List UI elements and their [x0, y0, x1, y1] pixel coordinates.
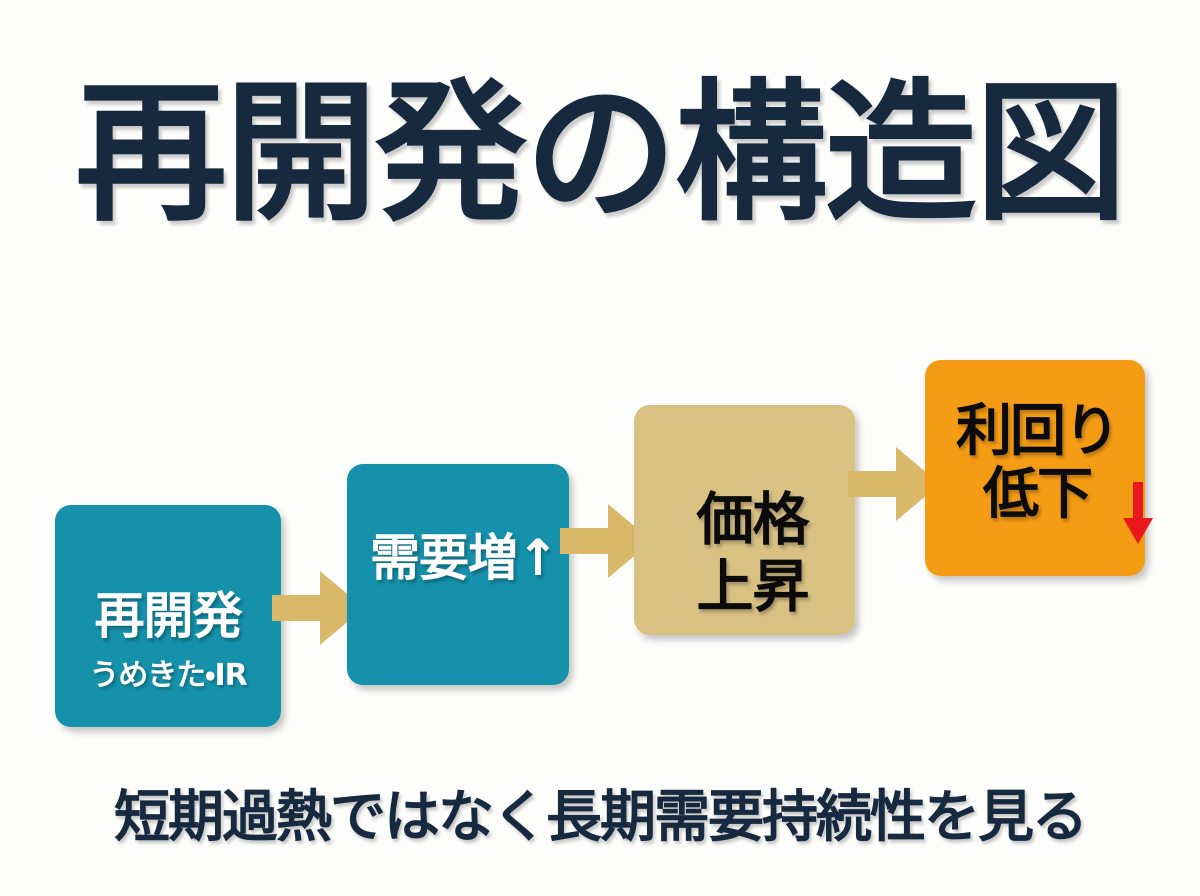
down-arrow-glyph [1123, 482, 1153, 544]
flow-step-price-rise-line2: 上昇 [697, 554, 809, 621]
flow-step-redevelopment-label: 再開発 [95, 591, 242, 642]
footer-caption: 短期過熱ではなく長期需要持続性を見る [0, 772, 1200, 853]
flow-step-redevelopment-sublabel: うめきた・IR [89, 650, 246, 694]
down-arrow-icon [1123, 482, 1153, 544]
flow-step-yield-decline-line2: 低下 [983, 464, 1091, 527]
flow-step-price-rise-line1: 価格 [697, 487, 809, 554]
flow-step-demand-increase: 需要増↑ [347, 464, 569, 685]
flow-step-yield-decline-label: 利回り 低下 [956, 401, 1118, 526]
flow-step-price-rise-label: 価格 上昇 [697, 487, 809, 622]
flow-step-yield-decline-line1: 利回り [956, 401, 1118, 464]
page-title: 再開発の構造図 [0, 78, 1200, 230]
flow-step-demand-increase-label: 需要増↑ [370, 533, 558, 584]
flow-step-redevelopment: 再開発 うめきた・IR [55, 505, 281, 727]
flow-step-price-rise: 価格 上昇 [634, 405, 855, 635]
flow-step-yield-decline: 利回り 低下 [925, 360, 1145, 576]
infographic-canvas: 再開発の構造図 再開発 うめきた・IR 需要増↑ 価格 上昇 利回り [0, 0, 1200, 896]
